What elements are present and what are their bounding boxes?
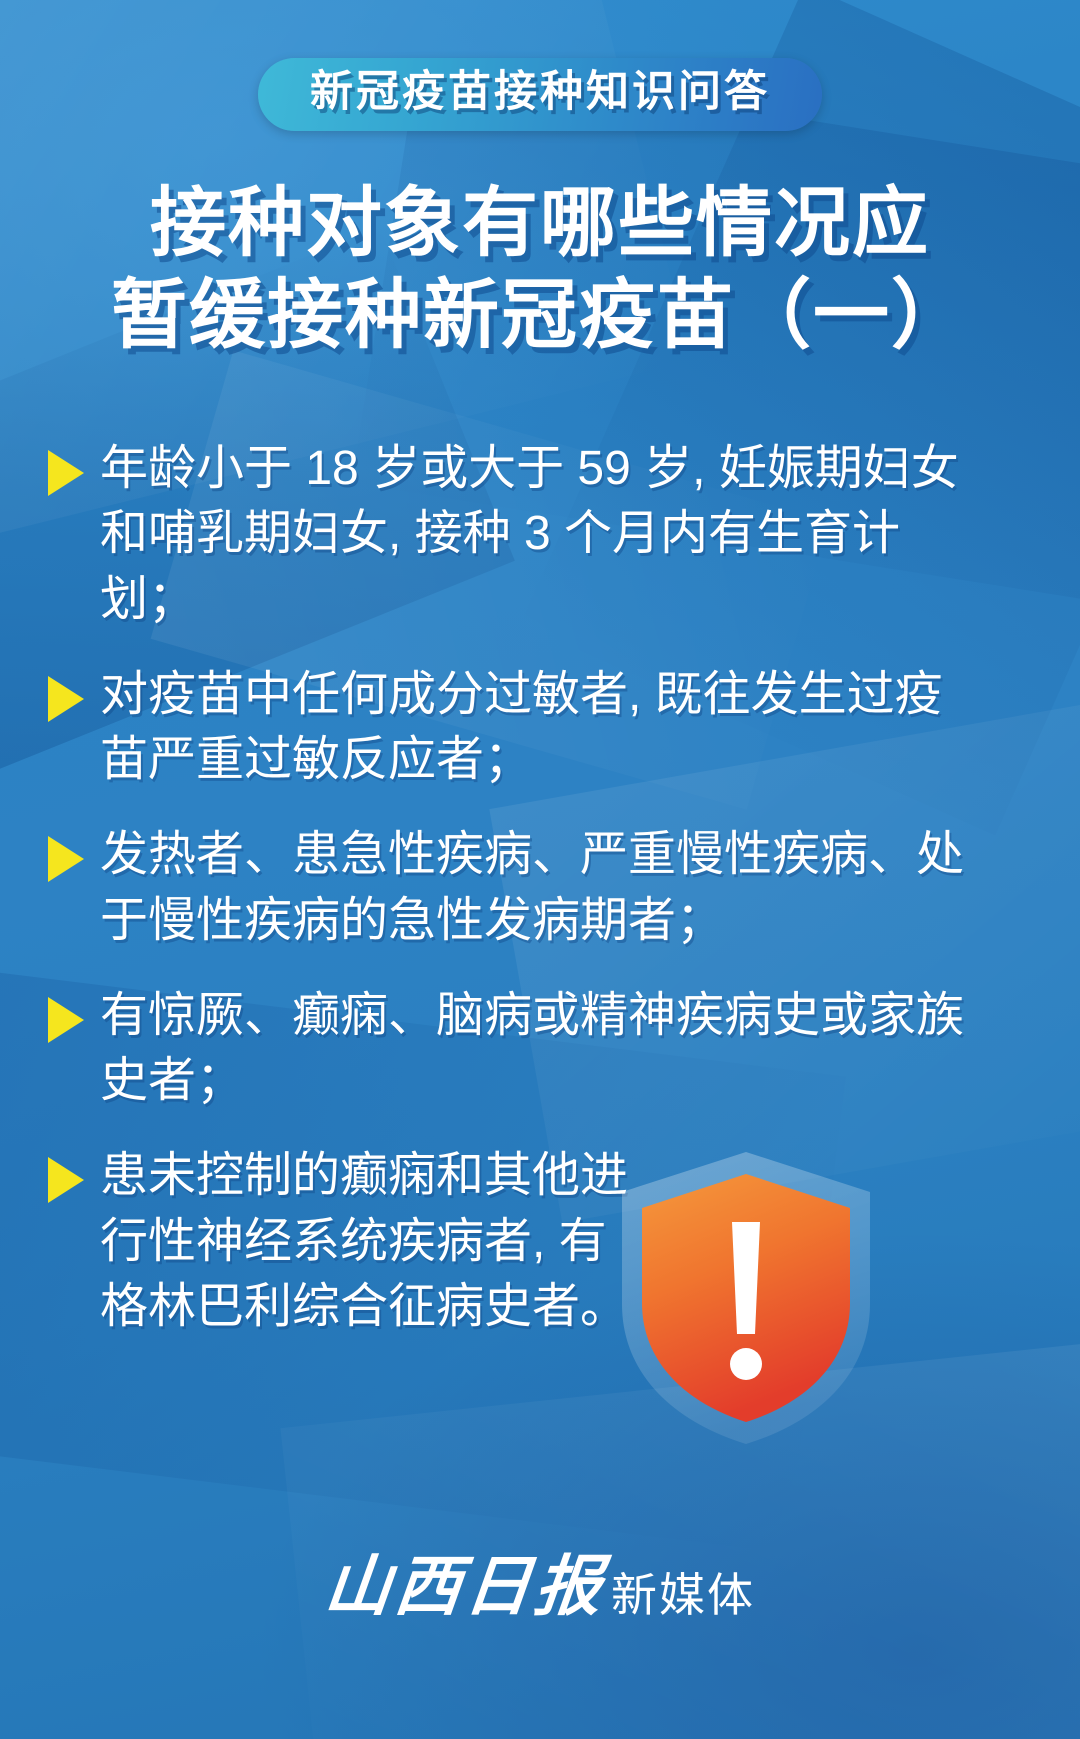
- triangle-right-icon: [48, 676, 84, 722]
- page-title: 接种对象有哪些情况应 暂缓接种新冠疫苗（一）: [0, 178, 1080, 362]
- list-item: 发热者、患急性疾病、严重慢性疾病、处于慢性疾病的急性发病期者；: [48, 822, 978, 953]
- footer-brand-name: 山西日报: [322, 1555, 609, 1621]
- warning-shield-exclamation-icon: [612, 1148, 880, 1448]
- list-item: 有惊厥、癫痫、脑病或精神疾病史或家族史者；: [48, 983, 978, 1114]
- footer-brand-suffix: 新媒体: [611, 1572, 755, 1621]
- header-badge-label: 新冠疫苗接种知识问答: [310, 71, 770, 114]
- triangle-right-icon: [48, 1157, 84, 1203]
- list-item: 年龄小于 18 岁或大于 59 岁, 妊娠期妇女和哺乳期妇女, 接种 3 个月内…: [48, 436, 978, 632]
- list-item-text: 发热者、患急性疾病、严重慢性疾病、处于慢性疾病的急性发病期者；: [100, 822, 978, 953]
- list-item-text: 年龄小于 18 岁或大于 59 岁, 妊娠期妇女和哺乳期妇女, 接种 3 个月内…: [100, 436, 978, 632]
- footer-logo: 山西日报 新媒体: [0, 1555, 1080, 1621]
- list-item-text: 对疫苗中任何成分过敏者, 既往发生过疫苗严重过敏反应者；: [100, 662, 978, 793]
- list-item: 对疫苗中任何成分过敏者, 既往发生过疫苗严重过敏反应者；: [48, 662, 978, 793]
- infographic-poster: 新冠疫苗接种知识问答 接种对象有哪些情况应 暂缓接种新冠疫苗（一） 年龄小于 1…: [0, 0, 1080, 1739]
- page-title-line-2: 暂缓接种新冠疫苗（一）: [0, 270, 1080, 362]
- header-badge: 新冠疫苗接种知识问答: [258, 58, 822, 131]
- header-badge-container: 新冠疫苗接种知识问答: [0, 58, 1080, 131]
- list-item-text: 有惊厥、癫痫、脑病或精神疾病史或家族史者；: [100, 983, 978, 1114]
- page-title-line-1: 接种对象有哪些情况应: [0, 178, 1080, 270]
- triangle-right-icon: [48, 450, 84, 496]
- list-item-text: 患未控制的癫痫和其他进行性神经系统疾病者, 有格林巴利综合征病史者。: [100, 1143, 645, 1339]
- triangle-right-icon: [48, 997, 84, 1043]
- triangle-right-icon: [48, 836, 84, 882]
